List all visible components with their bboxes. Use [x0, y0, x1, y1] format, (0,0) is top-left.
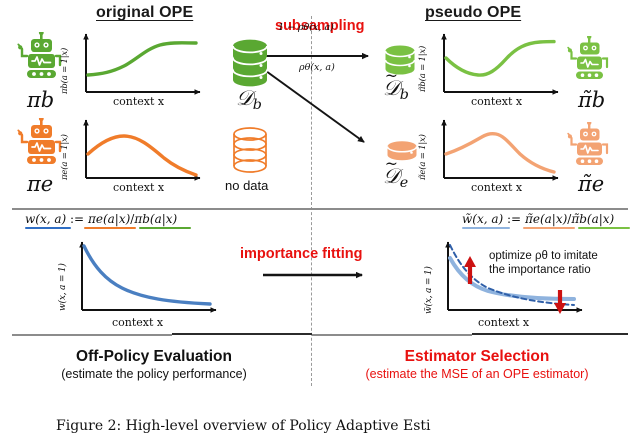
underline-w-right	[462, 227, 510, 229]
dataset-symbol-D-e-tilde: ~𝒟e	[383, 164, 408, 191]
chart-pi-b-original	[72, 26, 212, 100]
banner-subtitle-left: (estimate the policy performance)	[0, 367, 308, 381]
axis-label-x-pi-e: context x	[113, 181, 164, 194]
database-orange-outline	[230, 126, 270, 176]
axis-label-x-w-right: context x	[478, 316, 529, 329]
figure-root: original OPE pseudo OPE subsampling 1 − …	[0, 0, 640, 431]
robot-icon-green-pseudo	[566, 36, 618, 88]
divider-banner-left	[12, 334, 172, 336]
dataset-symbol-D-b: 𝒟Dbb	[236, 86, 262, 113]
optimize-annotation-line2: the importance ratio	[489, 264, 598, 278]
chart-pi-e-original	[72, 112, 212, 186]
database-green-3disc	[230, 38, 270, 90]
banner-title-right: Estimator Selection	[318, 348, 636, 366]
axis-label-x-pi-e-tilde: context x	[471, 181, 522, 194]
robot-icon-orange-pseudo	[566, 122, 618, 174]
drop-rate-label: ρθ(x, a)	[299, 62, 335, 73]
keep-rate-label: 1 − ρθ(x, a)	[278, 22, 334, 33]
axis-label-y-w-right: w̃(x, a = 1)	[424, 238, 434, 314]
axis-label-y-pi-b: πb(a = 1|x)	[60, 30, 70, 94]
chart-pi-e-pseudo	[430, 112, 570, 186]
importance-fitting-arrow	[262, 268, 372, 282]
axis-label-y-w-left: w(x, a = 1)	[58, 239, 68, 311]
divider-weights-top-left	[12, 208, 312, 210]
axis-label-x-pi-b-tilde: context x	[471, 95, 522, 108]
importance-fitting-label: importance fitting	[240, 246, 362, 262]
chart-w-original	[68, 234, 228, 320]
column-title-original: original OPE	[96, 4, 193, 22]
chart-w-pseudo	[434, 234, 594, 320]
divider-banner-right	[312, 334, 472, 336]
underline-denominator-left	[139, 227, 191, 229]
policy-symbol-pi-b: πb	[27, 88, 54, 112]
optimize-annotation: optimize ρθ to imitate the importance ra…	[489, 250, 598, 277]
chart-pi-b-pseudo	[430, 26, 570, 100]
banner-title-left: Off-Policy Evaluation	[0, 348, 308, 366]
policy-symbol-pi-b-tilde: π̃b	[578, 88, 605, 112]
optimize-annotation-line1: optimize ρθ to imitate	[489, 250, 598, 264]
column-title-pseudo: pseudo OPE	[425, 4, 521, 22]
no-data-label: no data	[225, 178, 268, 193]
axis-label-y-pi-e-tilde: π̃e(a = 1|x)	[418, 114, 428, 180]
underline-numerator-right	[523, 227, 575, 229]
underline-w-left	[25, 227, 71, 229]
banner-subtitle-right: (estimate the MSE of an OPE estimator)	[314, 367, 640, 381]
policy-symbol-pi-e-tilde: π̃e	[578, 172, 604, 196]
underline-denominator-right	[578, 227, 630, 229]
divider-weights-top-right	[312, 208, 628, 210]
policy-symbol-pi-e: πe	[27, 172, 53, 196]
axis-label-x-w-left: context x	[112, 316, 163, 329]
axis-label-y-pi-b-tilde: π̃b(a = 1|x)	[418, 28, 428, 92]
dataset-symbol-D-b-tilde: ~𝒟b	[383, 76, 409, 103]
divider-banner-right-dark	[472, 333, 628, 335]
divider-banner-left-dark	[172, 333, 312, 335]
equation-w-left: w(x, a) := πe(a|x)/πb(a|x)	[25, 212, 177, 226]
figure-caption: Figure 2: High-level overview of Policy …	[56, 418, 431, 434]
equation-w-right: w̃(x, a) := π̃e(a|x)/π̃b(a|x)	[462, 212, 614, 226]
axis-label-y-pi-e: πe(a = 1|x)	[60, 116, 70, 180]
axis-label-x-pi-b: context x	[113, 95, 164, 108]
underline-numerator-left	[84, 227, 136, 229]
